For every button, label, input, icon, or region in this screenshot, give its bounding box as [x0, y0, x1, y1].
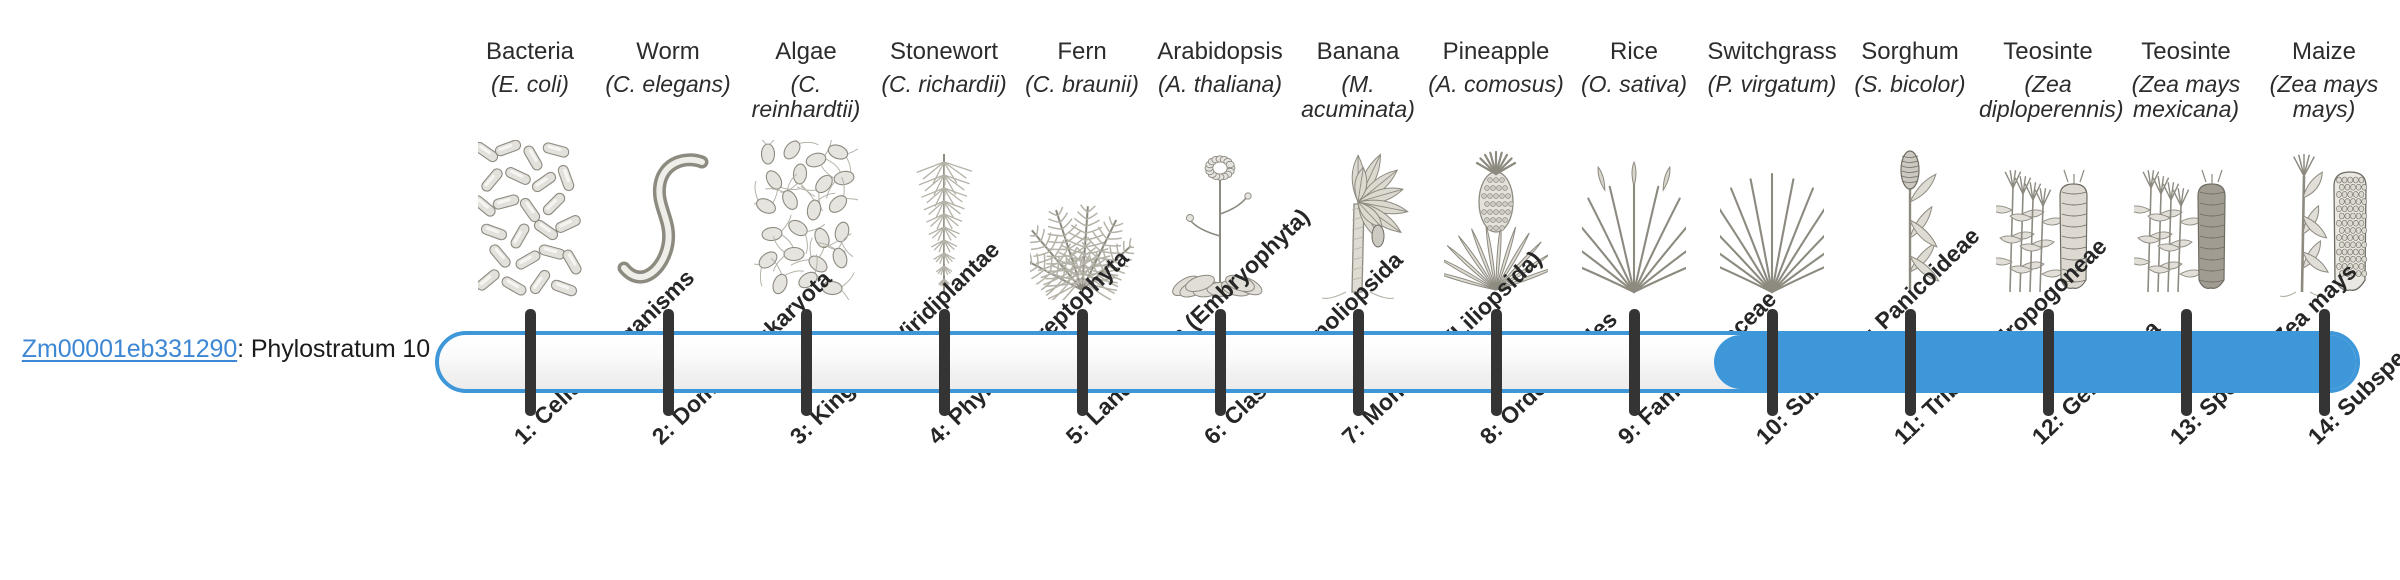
phylostratum-number: 8: — [1475, 417, 1508, 450]
phylostratum-tick-12[interactable] — [2043, 309, 2054, 416]
species-common-name: Teosinte — [2117, 38, 2255, 66]
species-common-name: Worm — [599, 38, 737, 66]
species-scientific-name: (C. elegans) — [599, 72, 737, 97]
phylostratum-tick-3[interactable] — [801, 309, 812, 416]
phylostratum-number: 6: — [1199, 417, 1232, 450]
species-scientific-name: (P. virgatum) — [1703, 72, 1841, 97]
phylostratum-tick-8[interactable] — [1491, 309, 1502, 416]
species-common-name: Fern — [1013, 38, 1151, 66]
species-scientific-name: (Zea mays mays) — [2255, 72, 2393, 123]
phylostratum-number: 9: — [1613, 417, 1646, 450]
species-scientific-name: (C. richardii) — [875, 72, 1013, 97]
phylostratum-tick-2[interactable] — [663, 309, 674, 416]
phylostratum-number: 4: — [923, 417, 956, 450]
species-common-name: Stonewort — [875, 38, 1013, 66]
species-scientific-name: (Zea mays mexicana) — [2117, 72, 2255, 123]
phylostratum-tick-9[interactable] — [1629, 309, 1640, 416]
species-scientific-name: (Zea diploperennis) — [1979, 72, 2117, 123]
phylostratum-tick-6[interactable] — [1215, 309, 1226, 416]
species-scientific-name: (E. coli) — [461, 72, 599, 97]
species-common-name: Switchgrass — [1703, 38, 1841, 66]
phylostratum-number: 3: — [785, 417, 818, 450]
bacteria-illustration — [461, 160, 599, 300]
phylostratum-tick-5[interactable] — [1077, 309, 1088, 416]
phylostratum-number: 2: — [647, 417, 680, 450]
species-scientific-name: (A. comosus) — [1427, 72, 1565, 97]
phylostratum-number: 7: — [1337, 417, 1370, 450]
species-common-name: Maize — [2255, 38, 2393, 66]
phylostratum-tick-13[interactable] — [2181, 309, 2192, 416]
phylostratum-chart: Zm00001eb331290: Phylostratum 10 Bacteri… — [0, 0, 2400, 580]
gene-label-separator: : — [237, 335, 251, 363]
species-scientific-name: (C. reinhardtii) — [737, 72, 875, 123]
species-common-name: Teosinte — [1979, 38, 2117, 66]
phylostratum-tick-1[interactable] — [525, 309, 536, 416]
species-common-name: Rice — [1565, 38, 1703, 66]
species-scientific-name: (O. sativa) — [1565, 72, 1703, 97]
species-common-name: Pineapple — [1427, 38, 1565, 66]
phylostratum-tick-4[interactable] — [939, 309, 950, 416]
phylostratum-value-text: Phylostratum 10 — [251, 335, 430, 363]
species-common-name: Algae — [737, 38, 875, 66]
species-common-name: Bacteria — [461, 38, 599, 66]
phylostratum-progress-track[interactable] — [435, 331, 2360, 393]
gene-id-link[interactable]: Zm00001eb331290 — [22, 335, 237, 363]
species-scientific-name: (S. bicolor) — [1841, 72, 1979, 97]
species-common-name: Banana — [1289, 38, 1427, 66]
species-scientific-name: (C. braunii) — [1013, 72, 1151, 97]
species-scientific-name: (A. thaliana) — [1151, 72, 1289, 97]
phylostratum-tick-10[interactable] — [1767, 309, 1778, 416]
phylostratum-progress-fill — [1714, 335, 2356, 389]
phylostratum-tick-11[interactable] — [1905, 309, 1916, 416]
phylostratum-tick-14[interactable] — [2319, 309, 2330, 416]
species-scientific-name: (M. acuminata) — [1289, 72, 1427, 123]
species-common-name: Arabidopsis — [1151, 38, 1289, 66]
species-common-name: Sorghum — [1841, 38, 1979, 66]
phylostratum-number: 1: — [509, 417, 542, 450]
phylostratum-tick-7[interactable] — [1353, 309, 1364, 416]
phylostratum-number: 5: — [1061, 417, 1094, 450]
gene-phylostratum-label: Zm00001eb331290: Phylostratum 10 — [0, 335, 430, 364]
